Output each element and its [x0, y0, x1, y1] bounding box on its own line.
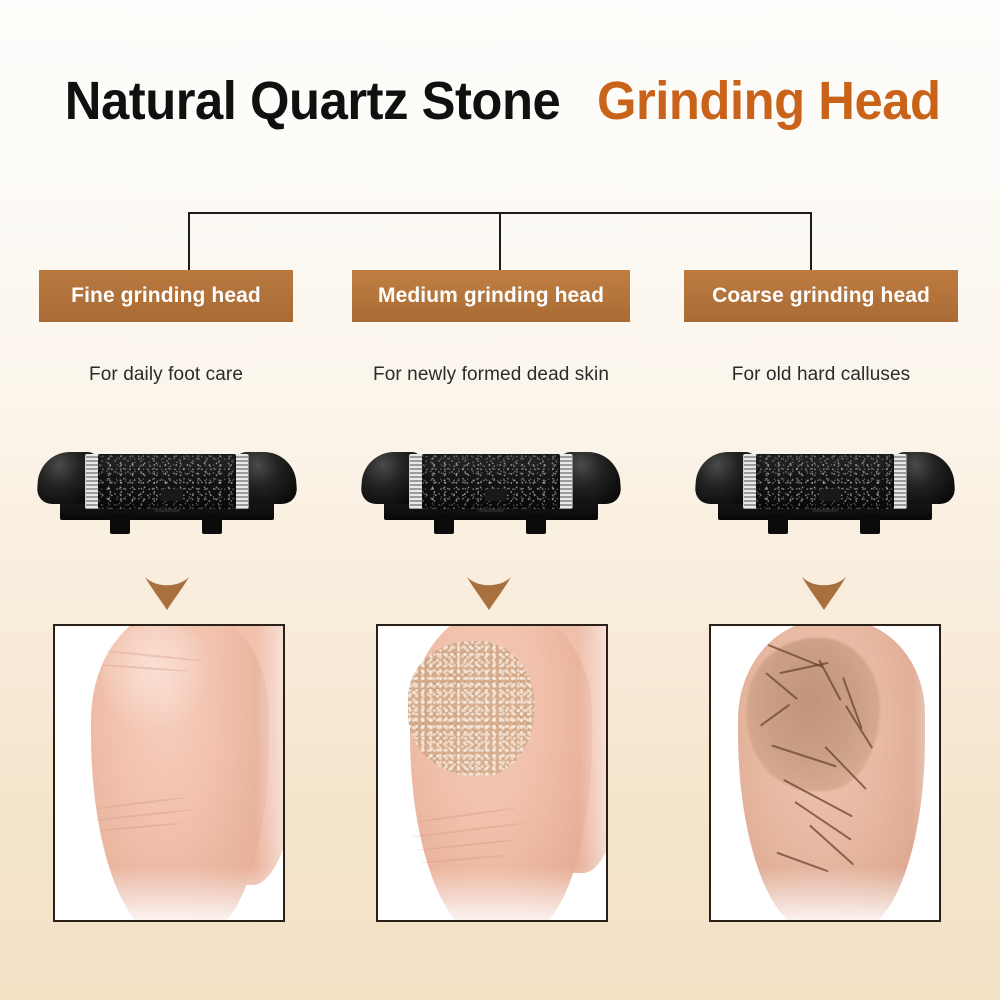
caption-coarse: For old hard calluses — [684, 364, 958, 386]
roller-grit-surface — [98, 454, 236, 509]
coarse-grinding-head-roller — [690, 424, 960, 534]
down-arrow-medium — [466, 575, 512, 611]
roller-ribbed-cap-right — [892, 454, 907, 509]
roller-ribbed-cap-right — [558, 454, 573, 509]
chip-coarse-grinding-head: Coarse grinding head — [684, 270, 958, 322]
down-arrow-icon — [466, 575, 512, 611]
roller-base-tab-left — [110, 518, 130, 534]
fine-grinding-head-roller — [32, 424, 302, 534]
down-arrow-icon — [801, 575, 847, 611]
caption-medium: For newly formed dead skin — [352, 364, 630, 386]
bracket-drop-right — [810, 212, 812, 270]
page-title: Natural Quartz StoneGrinding Head — [0, 74, 1000, 128]
callus-region — [747, 638, 879, 791]
photo-canvas — [711, 626, 939, 920]
heel-shape — [91, 624, 269, 922]
page-title-primary: Natural Quartz Stone — [65, 74, 560, 128]
down-arrow-fine — [144, 575, 190, 611]
photo-canvas — [55, 626, 283, 920]
chip-fine-grinding-head: Fine grinding head — [39, 270, 293, 322]
photo-canvas — [378, 626, 606, 920]
roller-base-tab-right — [526, 518, 546, 534]
roller-base-tab-left — [434, 518, 454, 534]
product-infographic: Natural Quartz StoneGrinding Head Fine g… — [0, 0, 1000, 1000]
roller-base-tab-right — [860, 518, 880, 534]
caption-fine: For daily foot care — [39, 364, 293, 386]
roller-base-tab-right — [202, 518, 222, 534]
down-arrow-icon — [144, 575, 190, 611]
down-arrow-coarse — [801, 575, 847, 611]
roller-ribbed-cap-right — [234, 454, 249, 509]
photo-smooth-healthy-heel — [53, 624, 285, 922]
bracket-connector — [188, 212, 812, 270]
bracket-drop-middle — [499, 212, 501, 270]
chip-medium-grinding-head: Medium grinding head — [352, 270, 630, 322]
dead-skin-patch — [408, 641, 536, 776]
photo-cracked-callus-heel — [709, 624, 941, 922]
bracket-drop-left — [188, 212, 190, 270]
page-title-accent: Grinding Head — [597, 74, 941, 128]
roller-grit-surface — [422, 454, 560, 509]
medium-grinding-head-roller — [356, 424, 626, 534]
roller-base-tab-left — [768, 518, 788, 534]
roller-grit-surface — [756, 454, 894, 509]
photo-dead-skin-heel — [376, 624, 608, 922]
